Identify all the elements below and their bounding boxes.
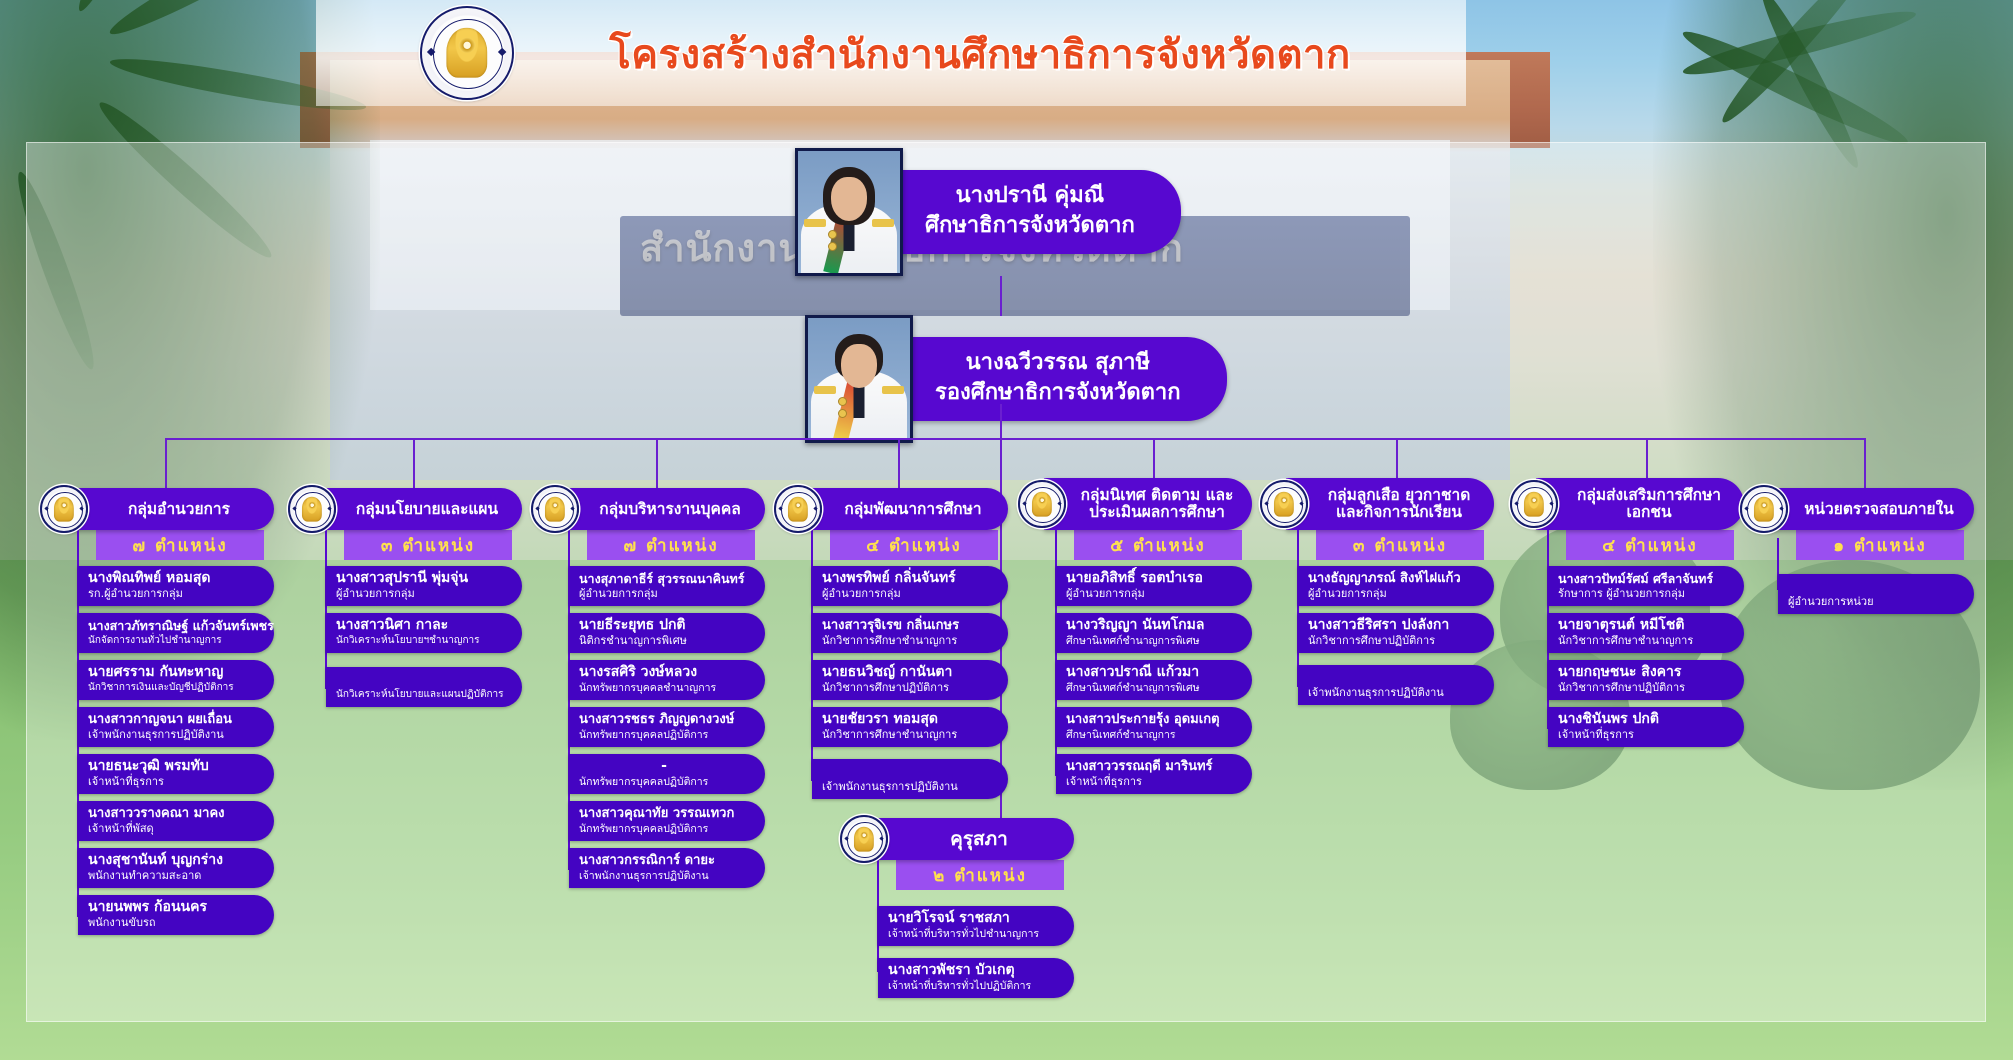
department-count-badge: ๔ ตำแหน่ง [830,530,998,560]
person-name: นายธนวิชญ์ กานันตา [822,664,992,681]
department-count-badge: ๑ ตำแหน่ง [1796,530,1964,560]
leader-name: นางฉวีวรรณ สุภาษี [935,348,1181,378]
department-count-badge: ๗ ตำแหน่ง [96,530,264,560]
person-role: ผู้อำนวยการกลุ่ม [1066,587,1236,601]
department-header[interactable]: หน่วยตรวจสอบภายใน [1766,488,1974,530]
person-role: ผู้อำนวยการกลุ่ม [1308,587,1478,601]
person-card[interactable]: นายธนะวุฒิ พรมทับเจ้าหน้าที่ธุรการ [78,754,274,794]
department-people: นางธัญญาภรณ์ สิงห์ไฝแก้วผู้อำนวยการกลุ่ม… [1272,566,1494,705]
person-role: พนักงานทำความสะอาด [88,869,258,883]
department-header[interactable]: กลุ่มนโยบายและแผน [314,488,522,530]
person-card[interactable]: นายธนวิชญ์ กานันตานักวิชาการศึกษาปฏิบัติ… [812,660,1008,700]
person-name: นางชินันพร ปกติ [1558,711,1728,728]
person-name: นายกฤษชนะ สิงคาร [1558,664,1728,681]
department-count-badge: ๗ ตำแหน่ง [587,530,755,560]
leader-name: นางปรานี คุ่มณี [925,181,1135,211]
department-count-badge: ๓ ตำแหน่ง [1316,530,1484,560]
person-card[interactable]: นายศรราม กันทะหาญนักวิชาการเงินและบัญชีป… [78,660,274,700]
org-chart-canvas: สำนักงานศึกษาธิการจังหวัดตาก โครงสร้างสำ… [0,0,2013,1060]
council-node[interactable]: คุรุสภา ๒ ตำแหน่ง นายวิโรจน์ ราชสภาเจ้าห… [852,818,1074,1005]
person-role: นักทรัพยากรบุคคลปฏิบัติการ [579,728,749,742]
department-count-badge: ๓ ตำแหน่ง [344,530,512,560]
avatar [805,315,913,443]
person-role: เจ้าพนักงานธุรการปฏิบัติงาน [88,728,258,742]
person-card[interactable]: นายชัยวรา ทอมสุดนักวิชาการศึกษาชำนาญการ [812,707,1008,747]
person-name: นางสาวรุจิเรข กลิ่นเกษร [822,617,992,634]
person-card[interactable]: นางชินันพร ปกติเจ้าหน้าที่ธุรการ [1548,707,1744,747]
person-name: นายธนะวุฒิ พรมทับ [88,758,258,775]
person-card[interactable]: นางสาวสุปรานี พุ่มจุ่นผู้อำนวยการกลุ่ม [326,566,522,606]
department-people: นางสุภาดาธีร์ สุวรรณนาคินทร์ผู้อำนวยการก… [543,566,765,888]
person-name: นางสาวปราณี แก้วมา [1066,664,1236,681]
person-card[interactable]: นายอภิสิทธิ์ รอตบำเรอผู้อำนวยการกลุ่ม [1056,566,1252,606]
connector [1864,438,1866,488]
person-card[interactable]: นางวริญญา นันทโกมลศึกษานิเทศก์ชำนาญการพิ… [1056,613,1252,653]
official-seal-icon [288,485,336,533]
person-name: นางสาวธีริศรา ปงลังกา [1308,617,1478,634]
person-name: นางสุภาดาธีร์ สุวรรณนาคินทร์ [579,570,749,587]
council-title: คุรุสภา [866,818,1074,860]
person-name: นายชัยวรา ทอมสุด [822,711,992,728]
person-role: นักทรัพยากรบุคคลชำนาญการ [579,681,749,695]
person-name [1788,578,1958,595]
department-header[interactable]: กลุ่มส่งเสริมการศึกษาเอกชน [1536,478,1744,530]
person-role: ผู้อำนวยการกลุ่ม [336,587,506,601]
person-name: นางสาวคุณาทัย วรรณเทวก [579,805,749,822]
connector-bus [165,438,1865,440]
page-title: โครงสร้างสำนักงานศึกษาธิการจังหวัดตาก [560,28,1400,86]
department-column[interactable]: กลุ่มนิเทศ ติดตาม และประเมินผลการศึกษา ๕… [1030,478,1252,801]
person-card[interactable]: นักวิเคราะห์นโยบายและแผนปฏิบัติการ [326,667,522,707]
department-count-badge: ๕ ตำแหน่ง [1074,530,1242,560]
department-header[interactable]: กลุ่มนิเทศ ติดตาม และประเมินผลการศึกษา [1044,478,1252,530]
department-title: กลุ่มนิเทศ ติดตาม และประเมินผลการศึกษา [1044,478,1252,530]
person-card[interactable]: นางสาวรุจิเรข กลิ่นเกษรนักวิชาการศึกษาชำ… [812,613,1008,653]
council-people: นายวิโรจน์ ราชสภาเจ้าหน้าที่บริหารทั่วไป… [852,906,1074,998]
person-name: นายอภิสิทธิ์ รอตบำเรอ [1066,570,1236,587]
person-card[interactable]: นางสาวนิศา กาละนักวิเคราะห์นโยบายฯชำนาญก… [326,613,522,653]
person-role: นักทรัพยากรบุคคลปฏิบัติการ [579,822,749,836]
connector [1000,404,1002,438]
department-header[interactable]: กลุ่มลูกเสือ ยุวกาชาด และกิจการนักเรียน [1286,478,1494,530]
leader-deputy[interactable]: นางฉวีวรรณ สุภาษี รองศึกษาธิการจังหวัดตา… [805,315,1227,443]
department-title: กลุ่มอำนวยการ [66,488,274,530]
department-column[interactable]: กลุ่มส่งเสริมการศึกษาเอกชน ๔ ตำแหน่ง นาง… [1522,478,1744,754]
department-people: นางพรทิพย์ กลิ่นจันทร์ผู้อำนวยการกลุ่ม น… [786,566,1008,799]
department-title: กลุ่มส่งเสริมการศึกษาเอกชน [1536,478,1744,530]
person-role: นักจัดการงานทั่วไปชำนาญการ [88,634,258,648]
person-role: เจ้าหน้าที่พัสดุ [88,822,258,836]
department-column[interactable]: กลุ่มอำนวยการ ๗ ตำแหน่ง นางพิณทิพย์ หอมส… [52,488,274,942]
leader-role: รองศึกษาธิการจังหวัดตาก [935,378,1181,408]
person-role: เจ้าหน้าที่ธุรการ [1558,728,1728,742]
person-name: นางสาวสุปรานี พุ่มจุ่น [336,570,506,587]
person-card[interactable]: นางสาววรางคณา มาคงเจ้าหน้าที่พัสดุ [78,801,274,841]
person-role: รักษาการ ผู้อำนวยการกลุ่ม [1558,587,1728,601]
person-name [336,671,506,688]
person-role: นักวิเคราะห์นโยบายฯชำนาญการ [336,634,506,648]
person-role: เจ้าพนักงานธุรการปฏิบัติงาน [579,869,749,883]
person-role: รก.ผู้อำนวยการกลุ่ม [88,587,258,601]
person-name: นายนพพร ก้อนนคร [88,899,258,916]
person-role: นิติกรชำนาญการพิเศษ [579,634,749,648]
person-card[interactable]: นางสาวปัทม์รัศม์ ศรีลาจันทร์รักษาการ ผู้… [1548,566,1744,606]
person-role: ศึกษานิเทศก์ชำนาญการพิเศษ [1066,634,1236,648]
person-name: นางสุชานันท์ บุญกร่าง [88,852,258,869]
official-seal-icon [420,6,514,100]
person-role: เจ้าพนักงานธุรการปฏิบัติงาน [822,780,992,794]
official-seal-icon [1260,480,1308,528]
person-card[interactable]: เจ้าพนักงานธุรการปฏิบัติงาน [1298,665,1494,705]
person-name: นางสาวประกายรุ้ง อุดมเกตุ [1066,711,1236,728]
official-seal-icon [1740,485,1788,533]
person-name [1308,669,1478,686]
person-role: นักวิชาการศึกษาปฏิบัติการ [1308,634,1478,648]
connector-spine [1297,530,1299,687]
person-card[interactable]: นางสาวภัทราณิษฐ์ แก้วจันทร์เพชรนักจัดการ… [78,613,274,653]
leader-director[interactable]: นางปรานี คุ่มณี ศึกษาธิการจังหวัดตาก [795,148,1181,276]
person-name: นางพรทิพย์ กลิ่นจันทร์ [822,570,992,587]
person-name: นายศรราม กันทะหาญ [88,664,258,681]
leader-label: นางปรานี คุ่มณี ศึกษาธิการจังหวัดตาก [899,170,1181,254]
person-name: นายวิโรจน์ ราชสภา [888,910,1058,927]
person-name: นางสาวนิศา กาละ [336,617,506,634]
person-card[interactable]: นายธีระยุทธ ปกตินิติกรชำนาญการพิเศษ [569,613,765,653]
person-card[interactable]: นางสาวพัชรา บัวเกตุเจ้าหน้าที่บริหารทั่ว… [878,958,1074,998]
person-role: เจ้าหน้าที่ธุรการ [1066,775,1236,789]
person-card[interactable]: นางสาวประกายรุ้ง อุดมเกตุศึกษานิเทศก์ชำน… [1056,707,1252,747]
council-count-badge: ๒ ตำแหน่ง [896,860,1064,890]
council-header[interactable]: คุรุสภา [866,818,1074,860]
official-seal-icon [40,485,88,533]
department-header[interactable]: กลุ่มอำนวยการ [66,488,274,530]
person-card[interactable]: เจ้าพนักงานธุรการปฏิบัติงาน [812,759,1008,799]
person-name: นางสาวรชธร ภิญญดางวงษ์ [579,711,749,728]
person-name: นายธีระยุทธ ปกติ [579,617,749,634]
person-name: นางสาววรางคณา มาคง [88,805,258,822]
person-name: นางวริญญา นันทโกมล [1066,617,1236,634]
person-role: พนักงานขับรถ [88,916,258,930]
department-people: นางสาวปัทม์รัศม์ ศรีลาจันทร์รักษาการ ผู้… [1522,566,1744,747]
person-card[interactable]: นางสาววรรณฤดี มารินทร์เจ้าหน้าที่ธุรการ [1056,754,1252,794]
person-role: ผู้อำนวยการหน่วย [1788,595,1958,609]
person-role: นักวิชาการศึกษาปฏิบัติการ [1558,681,1728,695]
person-card[interactable]: นายวิโรจน์ ราชสภาเจ้าหน้าที่บริหารทั่วไป… [878,906,1074,946]
person-role: ผู้อำนวยการกลุ่ม [579,587,749,601]
connector-spine [325,530,327,689]
person-card[interactable]: ผู้อำนวยการหน่วย [1778,574,1974,614]
person-role: นักวิชาการเงินและบัญชีปฏิบัติการ [88,681,258,695]
leader-label: นางฉวีวรรณ สุภาษี รองศึกษาธิการจังหวัดตา… [909,337,1227,421]
person-role: นักวิชาการศึกษาปฏิบัติการ [822,681,992,695]
person-role: นักวิชาการศึกษาชำนาญการ [822,728,992,742]
person-role: เจ้าพนักงานธุรการปฏิบัติงาน [1308,686,1478,700]
connector [656,438,658,488]
connector [898,438,900,488]
department-people: นางสาวสุปรานี พุ่มจุ่นผู้อำนวยการกลุ่ม น… [300,566,522,707]
person-card[interactable]: นางสาวรชธร ภิญญดางวงษ์นักทรัพยากรบุคคลปฏ… [569,707,765,747]
person-role: นักวิชาการศึกษาชำนาญการ [1558,634,1728,648]
person-role: ศึกษานิเทศก์ชำนาญการพิเศษ [1066,681,1236,695]
department-title: กลุ่มบริหารงานบุคคล [557,488,765,530]
person-role: นักวิเคราะห์นโยบายและแผนปฏิบัติการ [336,688,506,702]
leader-role: ศึกษาธิการจังหวัดตาก [925,211,1135,241]
person-name: - [579,758,749,775]
person-name: นายจาตุรนต์ หมีโชติ [1558,617,1728,634]
department-title: กลุ่มนโยบายและแผน [314,488,522,530]
person-role: เจ้าหน้าที่บริหารทั่วไปชำนาญการ [888,927,1058,941]
department-title: กลุ่มพัฒนาการศึกษา [800,488,1008,530]
person-role: นักวิชาการศึกษาชำนาญการ [822,634,992,648]
department-header[interactable]: กลุ่มพัฒนาการศึกษา [800,488,1008,530]
person-card[interactable]: นางรสศิริ วงษ์หลวงนักทรัพยากรบุคคลชำนาญก… [569,660,765,700]
department-header[interactable]: กลุ่มบริหารงานบุคคล [557,488,765,530]
official-seal-icon [531,485,579,533]
person-role: เจ้าหน้าที่บริหารทั่วไปปฏิบัติการ [888,979,1058,993]
person-card[interactable]: นางสาวปราณี แก้วมาศึกษานิเทศก์ชำนาญการพิ… [1056,660,1252,700]
person-card[interactable]: นายนพพร ก้อนนครพนักงานขับรถ [78,895,274,935]
person-name: นางสาวพัชรา บัวเกตุ [888,962,1058,979]
person-role: ผู้อำนวยการกลุ่ม [822,587,992,601]
department-column[interactable]: กลุ่มนโยบายและแผน ๓ ตำแหน่ง นางสาวสุปราน… [300,488,522,714]
person-name: นางรสศิริ วงษ์หลวง [579,664,749,681]
person-card[interactable]: นางพิณทิพย์ หอมสุดรก.ผู้อำนวยการกลุ่ม [78,566,274,606]
person-card[interactable]: นางสุชานันท์ บุญกร่างพนักงานทำความสะอาด [78,848,274,888]
person-name [822,763,992,780]
person-card[interactable]: นางสาวกรรณิการ์ ดายะเจ้าพนักงานธุรการปฏิ… [569,848,765,888]
department-column[interactable]: กลุ่มพัฒนาการศึกษา ๔ ตำแหน่ง นางพรทิพย์ … [786,488,1008,806]
person-role: เจ้าหน้าที่ธุรการ [88,775,258,789]
department-title: กลุ่มลูกเสือ ยุวกาชาด และกิจการนักเรียน [1286,478,1494,530]
department-title: หน่วยตรวจสอบภายใน [1766,488,1974,530]
person-name: นางธัญญาภรณ์ สิงห์ไฝแก้ว [1308,570,1478,587]
person-name: นางพิณทิพย์ หอมสุด [88,570,258,587]
department-people: นายอภิสิทธิ์ รอตบำเรอผู้อำนวยการกลุ่ม นา… [1030,566,1252,794]
person-name: นางสาวปัทม์รัศม์ ศรีลาจันทร์ [1558,570,1728,587]
person-name: นางสาวภัทราณิษฐ์ แก้วจันทร์เพชร [88,617,258,634]
person-card[interactable]: นางพรทิพย์ กลิ่นจันทร์ผู้อำนวยการกลุ่ม [812,566,1008,606]
person-role: นักทรัพยากรบุคคลปฏิบัติการ [579,775,749,789]
department-people: นางพิณทิพย์ หอมสุดรก.ผู้อำนวยการกลุ่ม นา… [52,566,274,935]
person-card[interactable]: นางสาวธีริศรา ปงลังกานักวิชาการศึกษาปฏิบ… [1298,613,1494,653]
department-column[interactable]: หน่วยตรวจสอบภายใน ๑ ตำแหน่ง ผู้อำนวยการห… [1752,488,1974,621]
person-card[interactable]: นางธัญญาภรณ์ สิงห์ไฝแก้วผู้อำนวยการกลุ่ม [1298,566,1494,606]
person-card[interactable]: นางสุภาดาธีร์ สุวรรณนาคินทร์ผู้อำนวยการก… [569,566,765,606]
person-name: นางสาววรรณฤดี มารินทร์ [1066,758,1236,775]
official-seal-icon [1018,480,1066,528]
person-card[interactable]: นายกฤษชนะ สิงคารนักวิชาการศึกษาปฏิบัติกา… [1548,660,1744,700]
person-name: นางสาวกาญจนา ผยเถื่อน [88,711,258,728]
person-card[interactable]: นางสาวกาญจนา ผยเถื่อนเจ้าพนักงานธุรการปฏ… [78,707,274,747]
connector [413,438,415,488]
department-count-badge: ๔ ตำแหน่ง [1566,530,1734,560]
avatar [795,148,903,276]
department-column[interactable]: กลุ่มบริหารงานบุคคล ๗ ตำแหน่ง นางสุภาดาธ… [543,488,765,895]
person-card[interactable]: นายจาตุรนต์ หมีโชตินักวิชาการศึกษาชำนาญก… [1548,613,1744,653]
official-seal-icon [774,485,822,533]
department-column[interactable]: กลุ่มลูกเสือ ยุวกาชาด และกิจการนักเรียน … [1272,478,1494,712]
connector [1000,276,1002,316]
official-seal-icon [1510,480,1558,528]
official-seal-icon [840,815,888,863]
department-people: ผู้อำนวยการหน่วย [1752,574,1974,614]
connector [165,438,167,488]
person-card[interactable]: -นักทรัพยากรบุคคลปฏิบัติการ [569,754,765,794]
person-role: ศึกษานิเทศก์ชำนาญการ [1066,728,1236,742]
person-name: นางสาวกรรณิการ์ ดายะ [579,852,749,869]
person-card[interactable]: นางสาวคุณาทัย วรรณเทวกนักทรัพยากรบุคคลปฏ… [569,801,765,841]
